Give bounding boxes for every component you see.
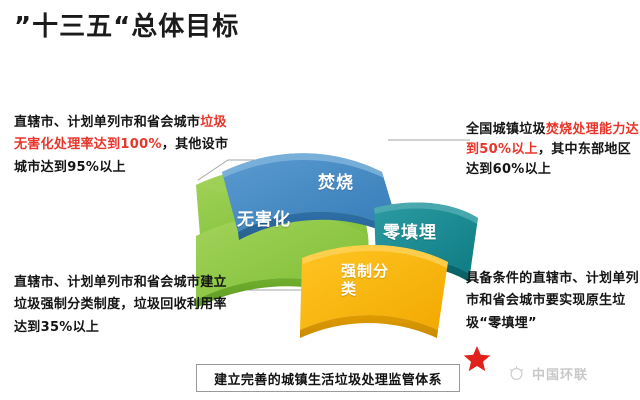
text-run-0: 直辖市、计划单列市和省会城市建立垃圾强制分类制度，垃圾回收利用率达到35%以上 (14, 275, 227, 335)
text-run-0: 直辖市、计划单列市和 (14, 115, 147, 130)
callout-top-right: 全国城镇垃圾焚烧处理能力达到50%以上，其中东部地区达到60%以上 (466, 120, 640, 180)
segment-label-blue: 焚烧 (318, 168, 354, 193)
callout-bottom-left: 直辖市、计划单列市和省会城市建立垃圾强制分类制度，垃圾回收利用率达到35%以上 (14, 272, 229, 339)
callout-top-left: 直辖市、计划单列市和省会城市垃圾无害化处理率达到100%，其他设市城市达到95%… (14, 112, 229, 179)
watermark: 中国环联 (508, 364, 588, 383)
banner-box: 建立完善的城镇生活垃圾处理监管体系 (196, 364, 460, 392)
fan-diagram (0, 0, 640, 400)
segment-label-yellow: 强制分类 (341, 262, 397, 298)
segment-label-green: 无害化 (237, 205, 291, 230)
text-run-0: 具备条件的直辖市、计划单列市和省会城市要实现原生垃圾“零填埋” (466, 271, 639, 331)
text-run-4: ，其他 (162, 137, 202, 152)
callout-bottom-right: 具备条件的直辖市、计划单列市和省会城市要实现原生垃圾“零填埋” (466, 268, 640, 335)
slide-canvas: ”十三五“总体目标 (0, 0, 640, 400)
banner-text: 建立完善的城镇生活垃圾处理监管体系 (214, 369, 442, 388)
red-star-icon (462, 344, 492, 374)
text-run-0: 全国城镇垃圾 (466, 122, 546, 137)
text-run-1: 省会城市 (147, 115, 200, 130)
segment-label-teal: 零填埋 (383, 218, 437, 243)
circle-logo-icon (508, 365, 525, 382)
text-run-3: 理率达到100% (67, 137, 162, 152)
watermark-text: 中国环联 (532, 364, 588, 383)
